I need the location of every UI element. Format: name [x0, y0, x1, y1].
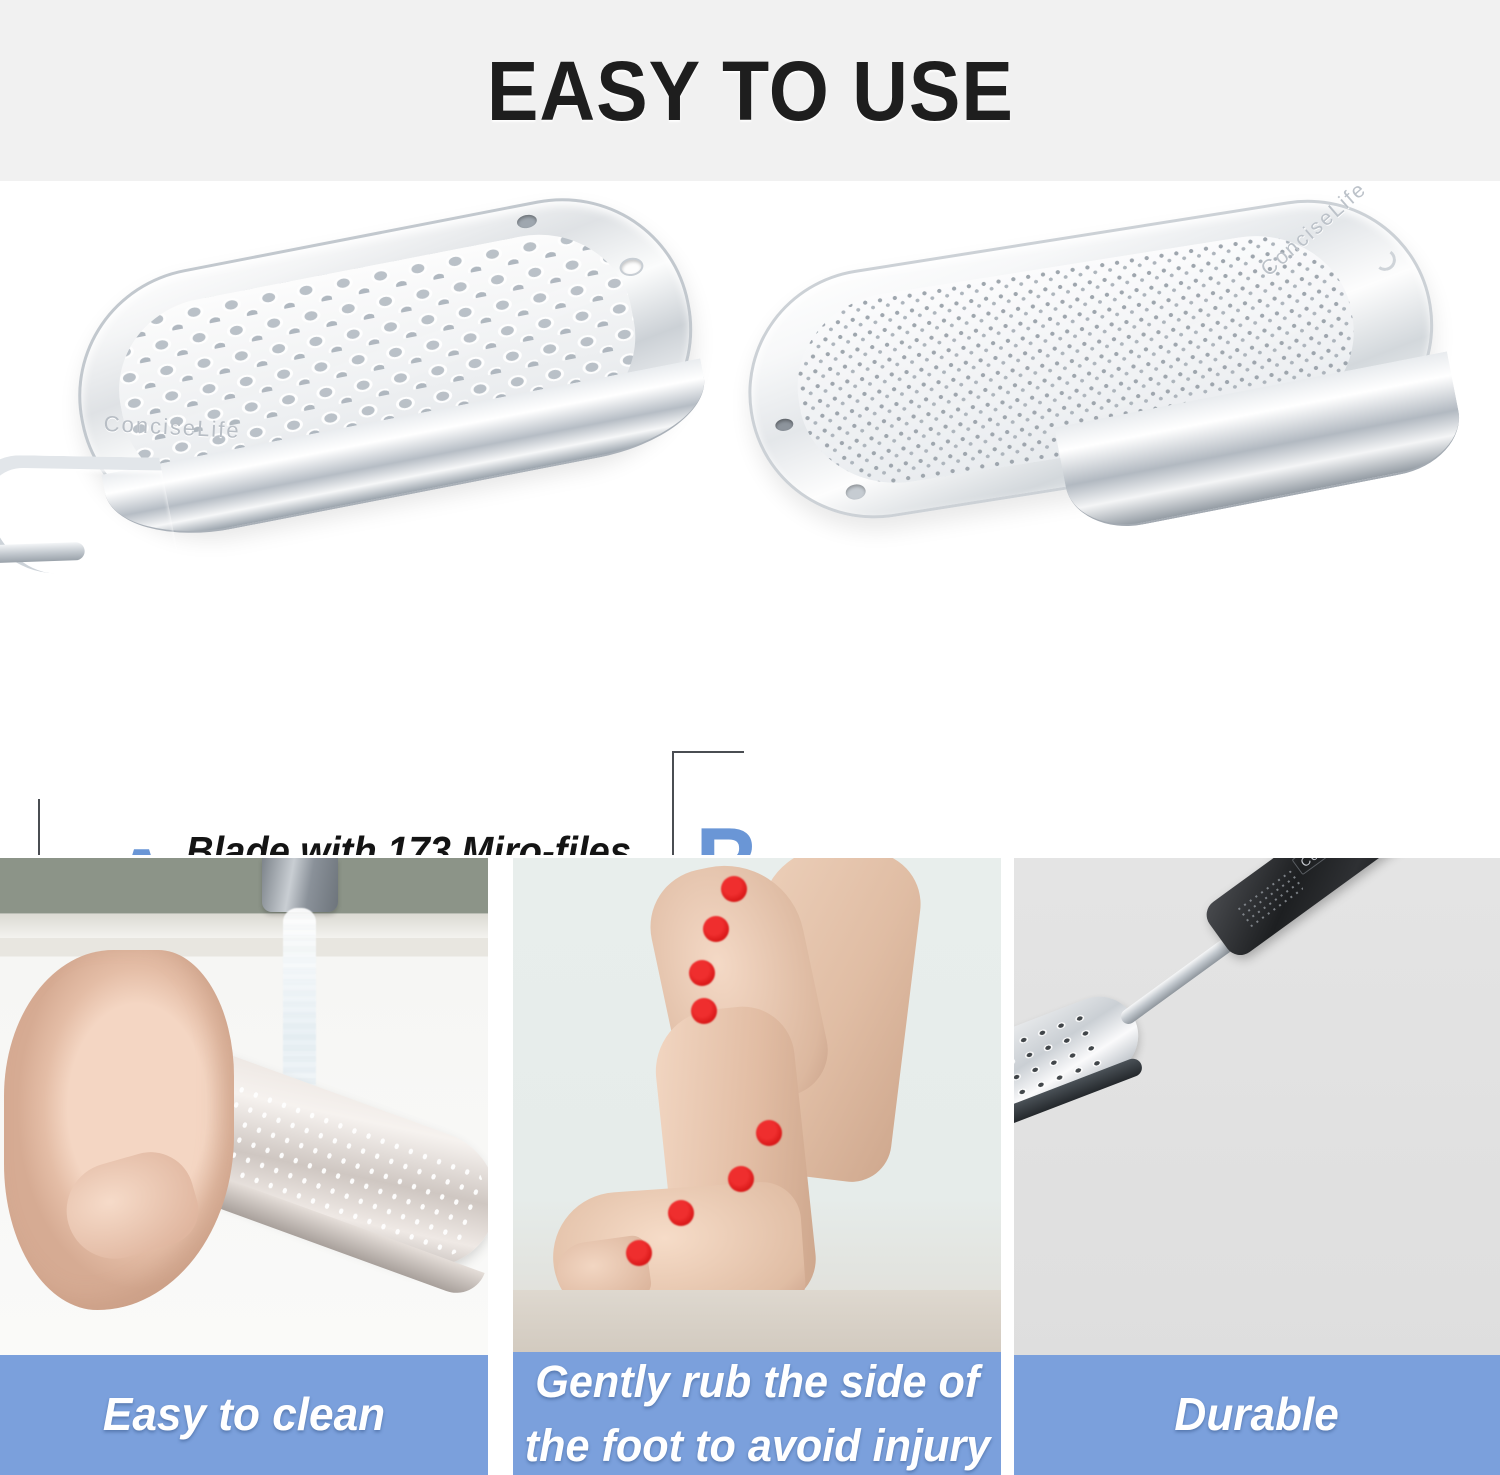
page-title: EASY TO USE	[487, 49, 1014, 133]
product-image-b: ConciseLife	[706, 181, 1500, 688]
red-dot-marker-5	[756, 1120, 782, 1146]
red-dot-marker-3	[689, 960, 715, 986]
caption-line: Easy to clean	[103, 1382, 385, 1447]
caption-gently-rub: Gently rub the side of the foot to avoid…	[513, 1352, 1001, 1475]
product-image-a: ConciseLife	[0, 181, 823, 731]
header-band: EASY TO USE	[0, 0, 1500, 181]
red-dot-marker-1	[721, 876, 747, 902]
tool-black-handle: ConciseLife	[1200, 858, 1437, 961]
faucet-icon	[262, 858, 338, 912]
red-dot-marker-2	[703, 916, 729, 942]
callout-text-a: Blade with 173 Miro-files is suitable fo…	[186, 826, 670, 855]
caption-line: the foot to avoid injury	[524, 1414, 990, 1475]
feature-panel-easy-to-clean: Easy to clean	[0, 858, 488, 1475]
handle-mesh-texture	[1235, 868, 1305, 929]
product-hero-area: ConciseLife ConciseLife A Blade with 173…	[0, 181, 1500, 855]
sink-edge	[0, 914, 488, 938]
handle-brand-label: ConciseLife	[1291, 858, 1376, 875]
caption-durable: Durable	[1014, 1355, 1500, 1475]
red-dot-marker-7	[668, 1200, 694, 1226]
marker-letter-a: A	[110, 834, 174, 855]
caption-line: Durable	[1175, 1382, 1339, 1447]
red-dot-marker-6	[728, 1166, 754, 1192]
red-dot-marker-4	[691, 998, 717, 1024]
feature-panel-gently-rub: Gently rub the side of the foot to avoid…	[513, 858, 1001, 1475]
caption-line: Gently rub the side of	[535, 1350, 979, 1414]
feature-panel-durable: ConciseLife Durable	[1014, 858, 1500, 1475]
floor-surface	[513, 1290, 1001, 1354]
foot-file-full-tool: ConciseLife	[1014, 858, 1471, 1182]
red-dot-marker-8	[626, 1240, 652, 1266]
marker-letter-b: B	[696, 813, 760, 855]
caption-easy-to-clean: Easy to clean	[0, 1355, 488, 1475]
